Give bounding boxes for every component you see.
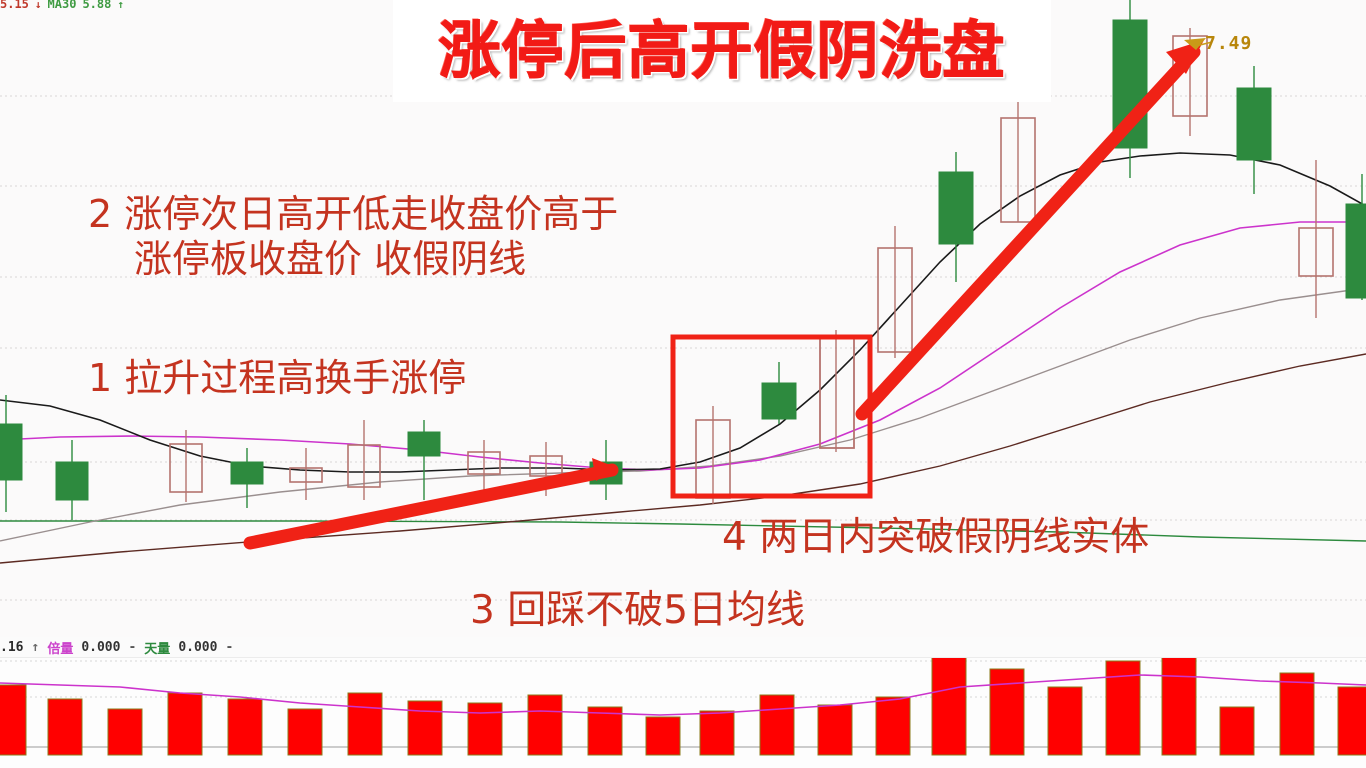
title-banner: 涨停后高开假阴洗盘	[393, 0, 1051, 102]
volume-ma-line	[0, 675, 1366, 715]
candle	[1299, 160, 1333, 318]
volume-arrow-icon: ↑	[31, 640, 39, 655]
annotation-1: 1 拉升过程高换手涨停	[88, 356, 466, 401]
candle	[231, 448, 263, 508]
annotation-2-line2: 涨停板收盘价 收假阴线	[134, 237, 618, 282]
candle	[348, 420, 380, 500]
candle	[0, 395, 22, 512]
price-label: 7.49	[1205, 33, 1252, 54]
volume-label-beiliang: 倍量	[47, 638, 73, 657]
candle	[878, 226, 912, 358]
ma20-line	[0, 288, 1366, 541]
ma-right-arrow-icon: ↑	[117, 0, 124, 11]
candle	[1237, 66, 1271, 194]
volume-dash-a: -	[128, 640, 136, 655]
ma60-line	[0, 521, 1366, 541]
candle	[408, 420, 440, 500]
annotation-4: 4 两日内突破假阴线实体	[722, 515, 1149, 561]
candle	[56, 440, 88, 520]
candle	[1346, 174, 1366, 300]
candle	[696, 406, 730, 504]
volume-value-beiliang: 0.000	[81, 640, 120, 655]
candle	[762, 362, 796, 424]
ma30-value: 5.88	[82, 0, 111, 11]
ma30-label: MA30	[48, 0, 77, 11]
annotation-2-line1: 2 涨停次日高开低走收盘价高于	[88, 192, 618, 236]
annotation-2: 2 涨停次日高开低走收盘价高于 涨停板收盘价 收假阴线	[88, 192, 618, 282]
volume-value-tianliang: 0.000	[178, 640, 217, 655]
volume-gridlines	[0, 661, 1366, 697]
volume-bars	[0, 655, 1366, 755]
volume-readout: .16 ↑ 倍量 0.000 - 天量 0.000 -	[0, 637, 1366, 658]
candle	[939, 152, 973, 282]
ma-left-arrow-icon: ↓	[35, 0, 42, 11]
volume-label-tianliang: 天量	[144, 638, 170, 657]
volume-dash-b: -	[225, 640, 233, 655]
candle	[170, 430, 202, 502]
candle	[290, 448, 322, 500]
ma-left-value: 5.15	[0, 0, 29, 11]
candle	[1113, 0, 1147, 178]
ma-readout: 5.15 ↓ MA30 5.88 ↑	[0, 0, 124, 11]
annotation-3: 3 回踩不破5日均线	[470, 588, 805, 634]
candle	[1001, 96, 1035, 222]
page-title: 涨停后高开假阴洗盘	[438, 20, 1005, 82]
stock-chart-screenshot: 5.15 ↓ MA30 5.88 ↑ 7.49 涨停后高开假阴洗盘 2 涨停次日…	[0, 0, 1366, 768]
volume-value: .16	[0, 640, 23, 655]
